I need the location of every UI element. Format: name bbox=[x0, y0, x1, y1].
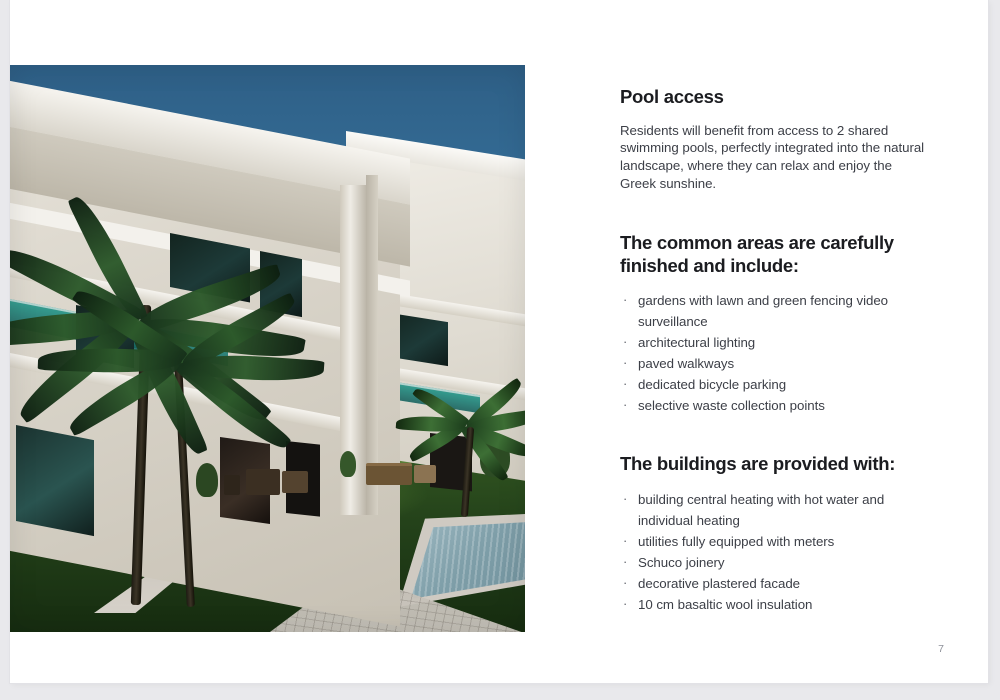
bullet-icon: · bbox=[623, 552, 627, 573]
section-paragraph: Residents will benefit from access to 2 … bbox=[620, 122, 926, 193]
list-item: · dedicated bicycle parking bbox=[620, 374, 930, 395]
list-item-label: utilities fully equipped with meters bbox=[638, 534, 834, 549]
page-number: 7 bbox=[938, 643, 944, 655]
bullet-icon: · bbox=[623, 374, 627, 395]
section-heading: Pool access bbox=[620, 86, 940, 109]
bullet-icon: · bbox=[623, 353, 627, 374]
residential-complex-render bbox=[10, 65, 525, 632]
render-artwork bbox=[10, 65, 525, 632]
list-item: · 10 cm basaltic wool insulation bbox=[620, 594, 930, 615]
bullet-icon: · bbox=[623, 573, 627, 594]
bullet-icon: · bbox=[623, 489, 627, 510]
foreground-palm-canopy bbox=[10, 65, 525, 632]
section-buildings: The buildings are provided with: · build… bbox=[620, 453, 940, 615]
common-areas-list: · gardens with lawn and green fencing vi… bbox=[620, 290, 940, 416]
bullet-icon: · bbox=[623, 594, 627, 615]
bullet-icon: · bbox=[623, 531, 627, 552]
list-item-label: architectural lighting bbox=[638, 335, 755, 350]
bullet-icon: · bbox=[623, 290, 627, 311]
list-item: · building central heating with hot wate… bbox=[620, 489, 930, 531]
list-item-label: paved walkways bbox=[638, 356, 734, 371]
list-item-label: Schuco joinery bbox=[638, 555, 725, 570]
list-item-label: gardens with lawn and green fencing vide… bbox=[638, 293, 888, 329]
content-column: Pool access Residents will benefit from … bbox=[620, 86, 940, 615]
list-item: · paved walkways bbox=[620, 353, 930, 374]
bullet-icon: · bbox=[623, 332, 627, 353]
list-item-label: building central heating with hot water … bbox=[638, 492, 884, 528]
section-pool-access: Pool access Residents will benefit from … bbox=[620, 86, 940, 192]
list-item: · selective waste collection points bbox=[620, 395, 930, 416]
list-item-label: dedicated bicycle parking bbox=[638, 377, 786, 392]
list-item: · decorative plastered facade bbox=[620, 573, 930, 594]
section-heading: The buildings are provided with: bbox=[620, 453, 940, 476]
list-item-label: decorative plastered facade bbox=[638, 576, 800, 591]
section-common-areas: The common areas are carefully finished … bbox=[620, 232, 940, 416]
screenshot-viewport: Pool access Residents will benefit from … bbox=[0, 0, 1000, 700]
list-item-label: 10 cm basaltic wool insulation bbox=[638, 597, 812, 612]
buildings-list: · building central heating with hot wate… bbox=[620, 489, 940, 615]
section-heading: The common areas are carefully finished … bbox=[620, 232, 940, 277]
bullet-icon: · bbox=[623, 395, 627, 416]
list-item: · gardens with lawn and green fencing vi… bbox=[620, 290, 930, 332]
list-item: · Schuco joinery bbox=[620, 552, 930, 573]
list-item: · utilities fully equipped with meters bbox=[620, 531, 930, 552]
list-item: · architectural lighting bbox=[620, 332, 930, 353]
document-page: Pool access Residents will benefit from … bbox=[10, 0, 988, 683]
list-item-label: selective waste collection points bbox=[638, 398, 825, 413]
